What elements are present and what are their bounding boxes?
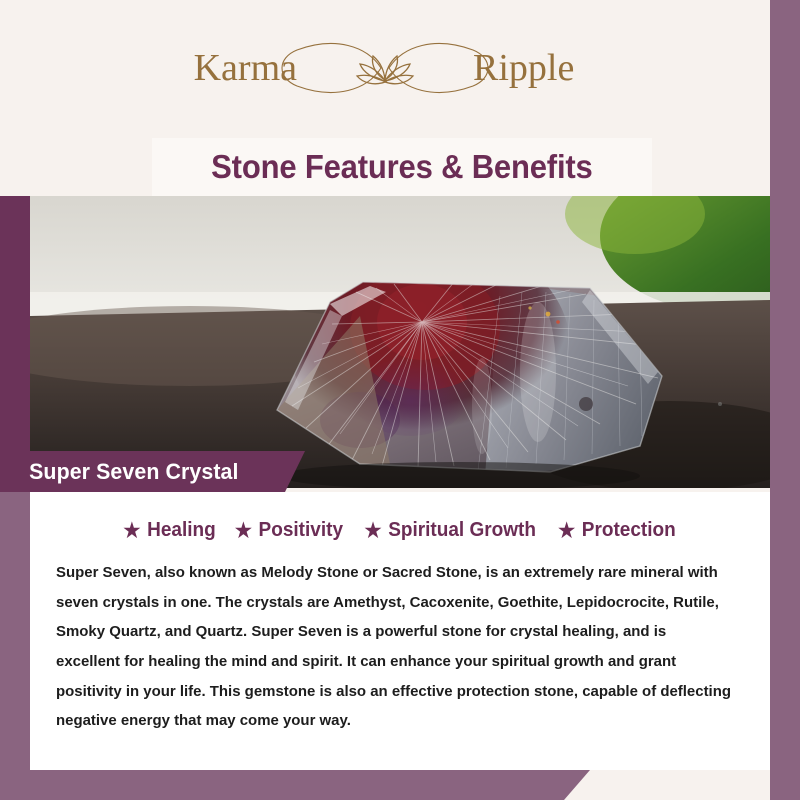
stone-name-label: Super Seven Crystal xyxy=(0,459,239,485)
description-paragraph: Super Seven, also known as Melody Stone … xyxy=(56,558,734,736)
brand-logo: Karma Ripple xyxy=(0,34,770,106)
page-title: Stone Features & Benefits xyxy=(211,148,592,186)
frame-accent-right xyxy=(770,0,800,800)
super-seven-crystal-photo xyxy=(30,196,770,488)
feature-list: ★ Healing ★ Positivity ★ Spiritual Growt… xyxy=(30,519,770,542)
star-icon: ★ xyxy=(235,521,252,541)
frame-accent-bottom xyxy=(0,770,590,800)
stone-name-tag: Super Seven Crystal xyxy=(0,451,305,492)
feature-label: Healing xyxy=(147,519,216,542)
content-panel: ★ Healing ★ Positivity ★ Spiritual Growt… xyxy=(30,492,770,770)
hero-image xyxy=(30,196,770,488)
title-banner: Stone Features & Benefits xyxy=(152,138,652,196)
star-icon: ★ xyxy=(558,521,575,541)
hero-side-accent xyxy=(0,196,30,488)
brand-name-right: Ripple xyxy=(473,47,574,89)
feature-item-spiritual-growth: ★ Spiritual Growth xyxy=(365,519,536,542)
star-icon: ★ xyxy=(365,521,382,541)
lotus-icon: Karma Ripple xyxy=(185,34,585,106)
feature-label: Positivity xyxy=(259,519,343,542)
feature-label: Protection xyxy=(582,519,676,542)
feature-item-protection: ★ Protection xyxy=(558,519,676,542)
feature-item-positivity: ★ Positivity xyxy=(235,519,343,542)
feature-label: Spiritual Growth xyxy=(389,519,537,542)
brand-name-left: Karma xyxy=(194,47,298,89)
star-icon: ★ xyxy=(124,521,141,541)
infographic-poster: Karma Ripple Stone Features & Benefits xyxy=(0,0,800,800)
feature-item-healing: ★ Healing xyxy=(124,519,216,542)
